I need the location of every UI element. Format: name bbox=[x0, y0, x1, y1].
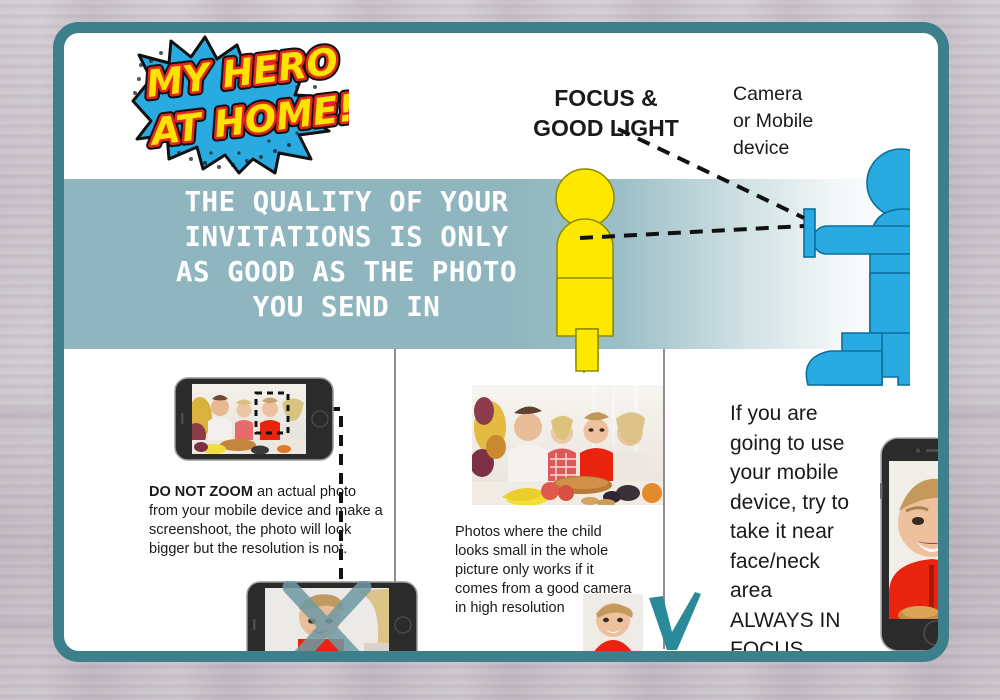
right-panel-text: If you are going to use your mobile devi… bbox=[730, 399, 865, 662]
phone-portrait-closeup-photo bbox=[880, 437, 949, 652]
headline-line-4: YOU SEND IN bbox=[74, 290, 619, 325]
right-text-line-3: your mobile bbox=[730, 458, 865, 488]
infographic-card: MY HERO MY HERO MY HERO AT HOME! AT HOME… bbox=[53, 22, 949, 662]
headline-line-1: THE QUALITY OF YOUR bbox=[74, 185, 619, 220]
right-text-line-9: FOCUS bbox=[730, 635, 865, 662]
focus-label-line-1: FOCUS & bbox=[516, 83, 696, 113]
camera-or-mobile-device-label: Camera or Mobile device bbox=[733, 81, 873, 162]
phone-landscape-zoomed-photo bbox=[246, 581, 418, 662]
family-table-photo bbox=[472, 385, 663, 505]
right-text-line-7: area bbox=[730, 576, 865, 606]
panel-do-not-zoom: DO NOT ZOOM an actual photo from your mo… bbox=[76, 351, 392, 651]
focus-and-good-light-label: FOCUS & GOOD LIGHT bbox=[516, 83, 696, 143]
right-text-line-1: If you are bbox=[730, 399, 865, 429]
camera-label-line-1: Camera bbox=[733, 81, 873, 108]
headline-line-3: AS GOOD AS THE PHOTO bbox=[74, 255, 619, 290]
right-text-line-5: take it near bbox=[730, 517, 865, 547]
right-text-line-2: going to use bbox=[730, 429, 865, 459]
focus-label-line-2: GOOD LIGHT bbox=[516, 113, 696, 143]
headline-banner: THE QUALITY OF YOUR INVITATIONS IS ONLY … bbox=[64, 179, 910, 349]
panel-photo-in-context: Photos where the child looks small in th… bbox=[398, 351, 660, 651]
my-hero-at-home-logo: MY HERO MY HERO MY HERO AT HOME! AT HOME… bbox=[119, 35, 349, 175]
boy-thumbnail-photo bbox=[583, 594, 643, 656]
right-text-line-6: face/neck bbox=[730, 547, 865, 577]
camera-label-line-3: device bbox=[733, 135, 873, 162]
phone-landscape-wide-photo bbox=[174, 377, 334, 461]
panel-mobile-device-tips: If you are going to use your mobile devi… bbox=[667, 351, 910, 651]
right-text-line-8: ALWAYS IN bbox=[730, 606, 865, 636]
headline-line-2: INVITATIONS IS ONLY bbox=[74, 220, 619, 255]
right-text-line-4: device, try to bbox=[730, 488, 865, 518]
headline-text: THE QUALITY OF YOUR INVITATIONS IS ONLY … bbox=[74, 185, 619, 325]
camera-label-line-2: or Mobile bbox=[733, 108, 873, 135]
do-not-zoom-text: DO NOT ZOOM an actual photo from your mo… bbox=[149, 483, 389, 559]
do-not-zoom-emphasis: DO NOT ZOOM bbox=[149, 484, 253, 500]
